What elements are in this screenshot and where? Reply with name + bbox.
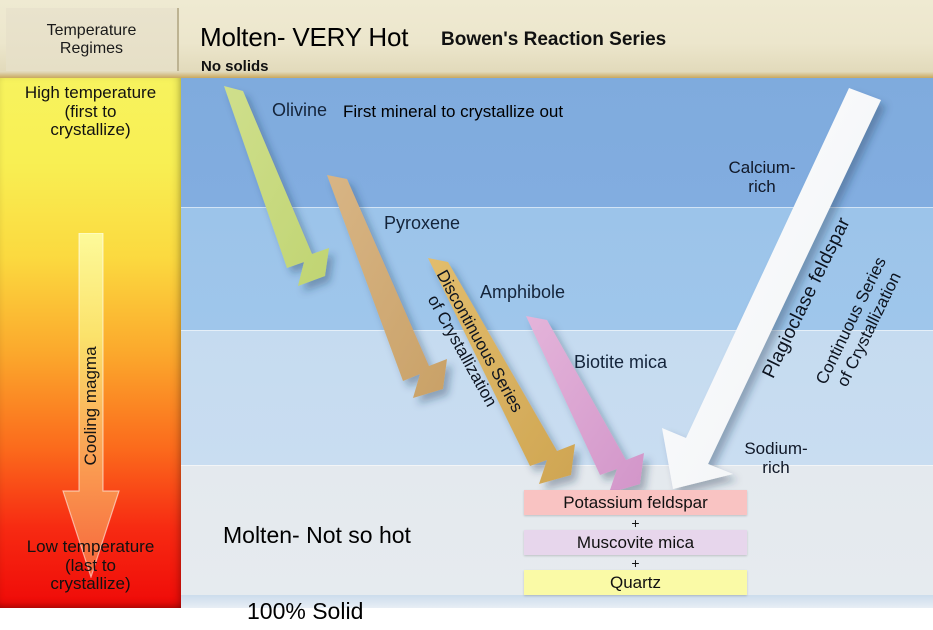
temperature-regimes-header: Temperature Regimes — [6, 8, 179, 71]
plagioclase-feldspar-arrow — [662, 88, 881, 489]
cooling-magma-arrow: Cooling magma — [62, 233, 120, 578]
biotite-arrow — [526, 316, 644, 493]
product-plus-2: + — [524, 555, 747, 571]
temperature-regimes-label: Temperature Regimes — [47, 22, 137, 58]
mineral-label-olivine: Olivine — [272, 100, 327, 121]
mineral-label-amphibole: Amphibole — [480, 282, 565, 303]
molten-not-so-hot-label: Molten- Not so hot — [223, 522, 411, 549]
page-title: Bowen's Reaction Series — [441, 29, 666, 51]
bowens-reaction-series-diagram: Temperature Regimes Molten- VERY Hot No … — [0, 0, 933, 630]
no-solids-label: No solids — [201, 58, 269, 75]
reaction-series-panel: Olivine First mineral to crystallize out… — [181, 78, 933, 608]
low-temperature-label: Low temperature (last to crystallize) — [0, 538, 181, 594]
olivine-note: First mineral to crystallize out — [343, 102, 563, 122]
high-temperature-label: High temperature (first to crystallize) — [0, 84, 181, 140]
calcium-rich-label: Calcium- rich — [707, 159, 817, 196]
mineral-label-biotite-mica: Biotite mica — [574, 352, 667, 373]
product-box-quartz: Quartz — [524, 570, 747, 595]
temperature-gradient-column: High temperature (first to crystallize) … — [0, 78, 181, 608]
molten-very-hot-label: Molten- VERY Hot — [200, 22, 408, 53]
product-plus-1: + — [524, 515, 747, 531]
product-box-muscovite-mica: Muscovite mica — [524, 530, 747, 555]
product-box-potassium-feldspar: Potassium feldspar — [524, 490, 747, 515]
mineral-label-pyroxene: Pyroxene — [384, 213, 460, 234]
cooling-magma-label: Cooling magma — [81, 346, 101, 465]
solid-percentage-label: 100% Solid — [247, 598, 363, 625]
header-band: Temperature Regimes Molten- VERY Hot No … — [0, 0, 933, 78]
sodium-rich-label: Sodium- rich — [721, 440, 831, 477]
